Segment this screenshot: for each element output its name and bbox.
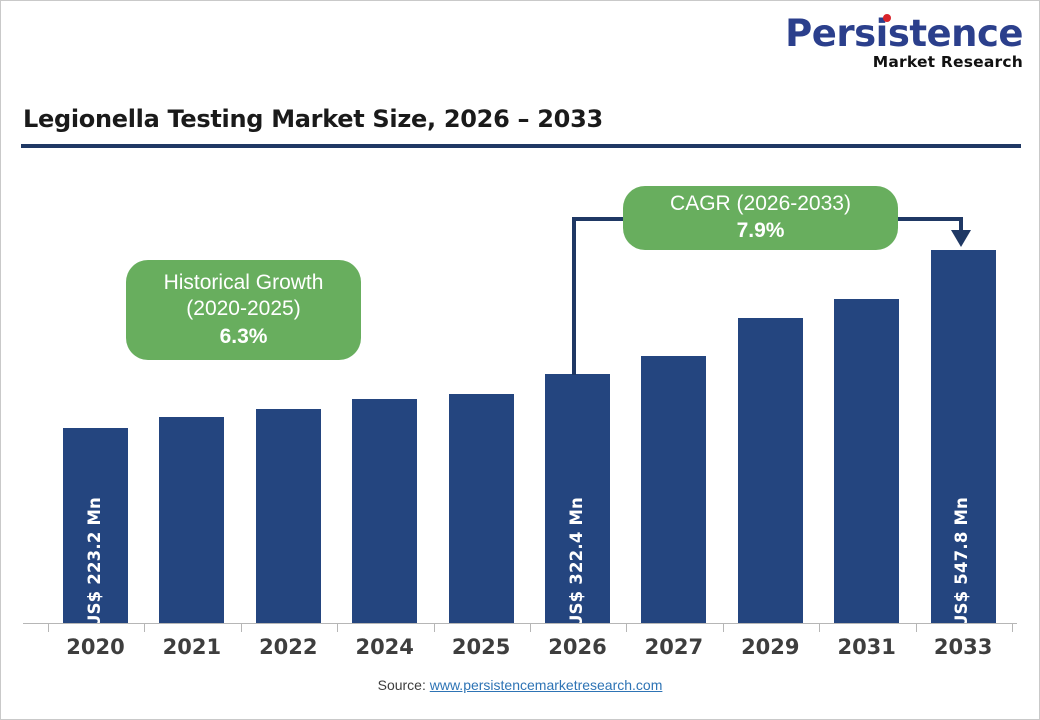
historical-growth-value: 6.3% [220, 323, 268, 350]
historical-growth-line1: Historical Growth [164, 270, 324, 296]
chart-page: Persistence Market Research Legionella T… [0, 0, 1040, 720]
historical-growth-callout: Historical Growth (2020-2025) 6.3% [126, 260, 361, 360]
x-tick-2033 [916, 623, 917, 632]
x-axis-line [23, 623, 1017, 624]
cagr-connector-horizontal-right [894, 217, 963, 221]
bar-2022 [256, 409, 321, 623]
bar-2031 [834, 299, 899, 623]
bar-2027 [641, 356, 706, 623]
bar-value-label-2026: US$ 322.4 Mn [567, 497, 586, 628]
x-tick-2022 [241, 623, 242, 632]
x-tick-2026 [530, 623, 531, 632]
source-prefix: Source: [378, 677, 430, 693]
x-axis-label-2031: 2031 [818, 635, 915, 659]
x-tick-2021 [144, 623, 145, 632]
x-axis-label-2033: 2033 [915, 635, 1012, 659]
bar-value-label-2020: US$ 223.2 Mn [85, 497, 104, 628]
bar-2025 [449, 394, 514, 623]
x-tick-2025 [434, 623, 435, 632]
x-axis-label-2022: 2022 [240, 635, 337, 659]
x-tick-2031 [819, 623, 820, 632]
bar-value-label-2033: US$ 547.8 Mn [952, 497, 971, 628]
cagr-connector-horizontal-left [572, 217, 628, 221]
historical-growth-line2: (2020-2025) [186, 296, 300, 322]
cagr-line1: CAGR (2026-2033) [670, 191, 851, 217]
bar-chart-plot: US$ 223.2 MnUS$ 322.4 MnUS$ 547.8 Mn 202… [1, 1, 1040, 720]
cagr-callout: CAGR (2026-2033) 7.9% [623, 186, 898, 250]
x-tick-2027 [626, 623, 627, 632]
x-tick-end [1012, 623, 1013, 632]
cagr-value: 7.9% [737, 217, 785, 244]
source-link[interactable]: www.persistencemarketresearch.com [430, 677, 663, 693]
x-axis-label-2021: 2021 [143, 635, 240, 659]
x-axis-label-2025: 2025 [433, 635, 530, 659]
x-axis-label-2029: 2029 [722, 635, 819, 659]
source-note: Source: www.persistencemarketresearch.co… [1, 677, 1039, 693]
x-tick-2029 [723, 623, 724, 632]
x-axis-label-2020: 2020 [47, 635, 144, 659]
bar-2024 [352, 399, 417, 623]
cagr-arrow-icon [951, 230, 971, 247]
x-axis-label-2024: 2024 [336, 635, 433, 659]
x-tick-2024 [337, 623, 338, 632]
cagr-connector-vertical [572, 217, 576, 375]
x-axis-label-2026: 2026 [529, 635, 626, 659]
bar-2021 [159, 417, 224, 623]
x-axis-label-2027: 2027 [625, 635, 722, 659]
x-tick-2020 [48, 623, 49, 632]
bar-2029 [738, 318, 803, 623]
